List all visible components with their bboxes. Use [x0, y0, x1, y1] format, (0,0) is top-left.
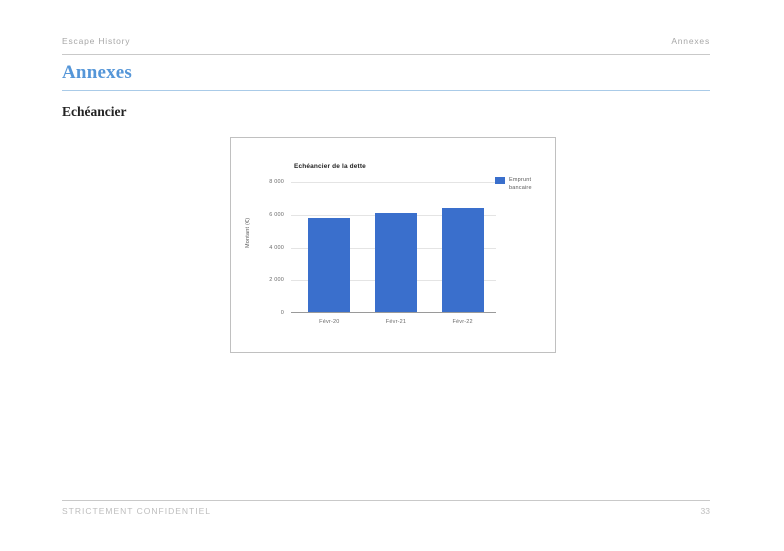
- chart-bar-slot: Févr-21: [363, 182, 430, 313]
- chart-y-tick-label: 6 000: [269, 212, 284, 218]
- chart-x-tick-label: Févr-21: [386, 319, 406, 325]
- chart-y-axis-title: Montant (€): [245, 218, 251, 248]
- document-header: Escape History Annexes: [62, 36, 710, 55]
- chart-legend: Emprunt bancaire: [495, 176, 539, 192]
- chart-bar-slot: Févr-22: [429, 182, 496, 313]
- page-number: 33: [701, 506, 710, 516]
- chart-bar[interactable]: [442, 208, 484, 313]
- legend-item-label: Emprunt bancaire: [509, 176, 539, 192]
- legend-swatch-icon: [495, 177, 505, 184]
- chart-x-tick-label: Févr-20: [319, 319, 339, 325]
- chart-title: Echéancier de la dette: [294, 163, 366, 170]
- chart-bar[interactable]: [308, 218, 350, 313]
- chart-gridline: 0: [291, 313, 496, 314]
- confidentiality-label: STRICTEMENT CONFIDENTIEL: [62, 506, 211, 516]
- sub-heading: Echéancier: [62, 104, 126, 120]
- chart-y-tick-label: 8 000: [269, 179, 284, 185]
- chart-bars: Févr-20Févr-21Févr-22: [296, 182, 496, 313]
- chart-plot-area: 8 0006 0004 0002 0000 Févr-20Févr-21Févr…: [296, 182, 496, 313]
- document-page: Escape History Annexes Annexes Echéancie…: [0, 0, 784, 551]
- chart-y-tick-label: 0: [281, 310, 284, 316]
- header-left-label: Escape History: [62, 36, 130, 46]
- chart-y-tick-label: 2 000: [269, 277, 284, 283]
- document-footer: STRICTEMENT CONFIDENTIEL 33: [62, 500, 710, 516]
- chart-x-tick-label: Févr-22: [452, 319, 472, 325]
- chart-bar[interactable]: [375, 213, 417, 313]
- chart-y-tick-label: 4 000: [269, 245, 284, 251]
- header-right-label: Annexes: [671, 36, 710, 46]
- chart-container: Echéancier de la dette Montant (€) 8 000…: [230, 137, 556, 353]
- title-underline-rule: [62, 90, 710, 91]
- chart-x-axis-line: [291, 312, 496, 313]
- page-title: Annexes: [62, 62, 132, 84]
- chart-bar-slot: Févr-20: [296, 182, 363, 313]
